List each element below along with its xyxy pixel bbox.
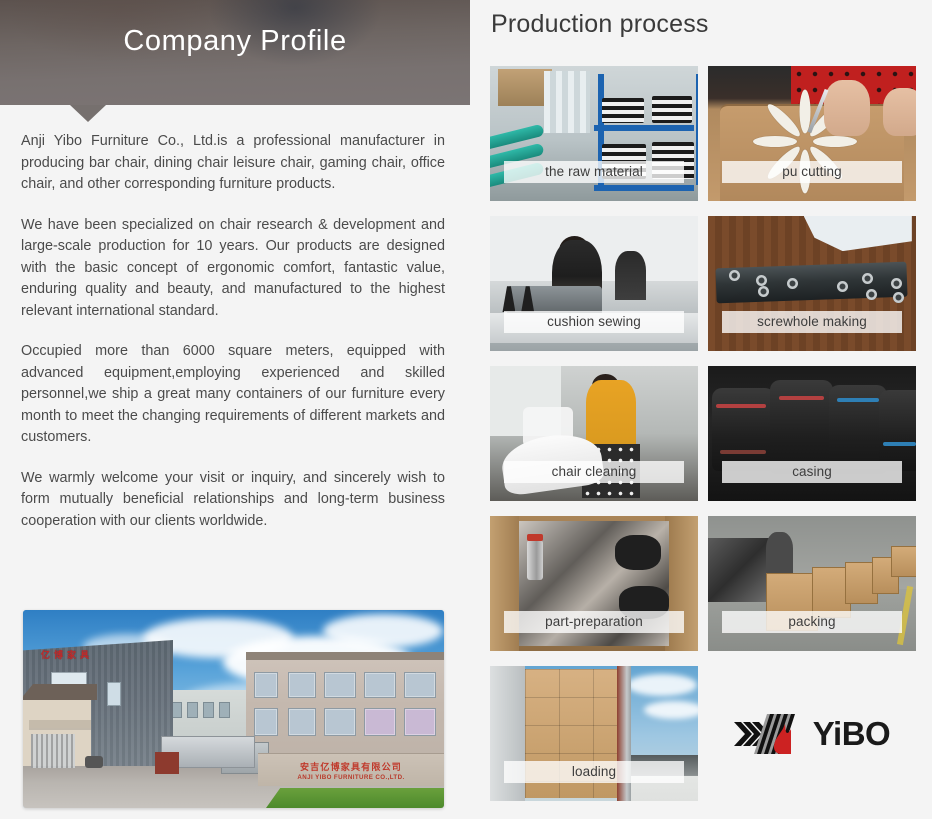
process-step-raw-material[interactable]: the raw material (490, 66, 698, 201)
process-step-caption: packing (722, 611, 902, 633)
window (404, 672, 436, 698)
window (187, 702, 198, 718)
worker (615, 251, 646, 300)
process-step-cushion-sewing[interactable]: cushion sewing (490, 216, 698, 351)
screw-hole (893, 292, 904, 303)
window (324, 672, 356, 698)
process-step-screwhole-making[interactable]: screwhole making (708, 216, 916, 351)
cloud (323, 614, 443, 648)
paper-sheet (804, 216, 912, 251)
blue-trim (883, 442, 916, 446)
red-trim (779, 396, 825, 400)
chair-seat (712, 388, 774, 472)
yibo-logo: YiBO (734, 713, 890, 755)
blue-trim (837, 398, 879, 402)
window (404, 708, 436, 736)
process-step-caption: loading (504, 761, 684, 783)
process-step-caption: casing (722, 461, 902, 483)
wrapped-goods (708, 538, 770, 603)
gas-lift-cylinder (527, 540, 543, 580)
window (364, 708, 396, 736)
chair-base-part (615, 535, 661, 570)
shelf (594, 185, 694, 191)
window (324, 708, 356, 736)
window (203, 702, 214, 718)
worker-hand (883, 88, 916, 137)
shelf (594, 125, 694, 131)
foam-stack (652, 96, 692, 123)
company-profile-panel: Company Profile Anji Yibo Furniture Co.,… (0, 0, 470, 819)
process-step-casing[interactable]: casing (708, 366, 916, 501)
company-profile-text: Anji Yibo Furniture Co., Ltd.is a profes… (21, 131, 445, 532)
scooter (85, 756, 103, 768)
company-profile-banner: Company Profile (0, 0, 470, 105)
chair-seat (770, 380, 832, 475)
worker-hand (824, 80, 870, 137)
process-step-loading[interactable]: loading (490, 666, 698, 801)
window (288, 708, 316, 736)
page-title: Company Profile (0, 25, 470, 58)
process-step-caption: pu cutting (722, 161, 902, 183)
process-step-caption: screwhole making (722, 311, 902, 333)
screw-hole (866, 289, 877, 300)
process-step-part-preparation[interactable]: part-preparation (490, 516, 698, 651)
chair-seat (879, 390, 916, 471)
carton-box (891, 546, 916, 578)
production-process-panel: Production process (470, 0, 932, 819)
process-row: part-preparation packing (490, 516, 916, 651)
brown-trim (720, 450, 766, 454)
yibo-chevron-mark-icon (734, 713, 804, 755)
truck-cab (155, 752, 179, 774)
screw-hole (837, 281, 848, 292)
process-row: loading (490, 666, 916, 801)
cloud (644, 701, 698, 719)
company-profile-page: Company Profile Anji Yibo Furniture Co.,… (0, 0, 932, 819)
wall-sign-english: ANJI YIBO FURNITURE CO.,LTD. (297, 774, 404, 781)
process-row: the raw material (490, 66, 916, 201)
process-row: chair cleaning casing (490, 366, 916, 501)
lawn (266, 788, 444, 808)
window (107, 682, 121, 706)
pu-petal (753, 136, 797, 147)
profile-paragraph: We warmly welcome your visit or inquiry,… (21, 468, 445, 533)
process-step-packing[interactable]: packing (708, 516, 916, 651)
factory-exterior-photo: 亿博家具 安吉亿博家具有限公司 (23, 610, 444, 808)
process-step-caption: chair cleaning (504, 461, 684, 483)
screw-hole (862, 273, 873, 284)
process-step-caption: cushion sewing (504, 311, 684, 333)
screw-hole (729, 270, 740, 281)
metal-carts (31, 734, 75, 768)
process-step-caption: the raw material (504, 161, 684, 183)
cloud (627, 674, 697, 696)
process-step-chair-cleaning[interactable]: chair cleaning (490, 366, 698, 501)
window (254, 672, 278, 698)
window (288, 672, 316, 698)
roofline (246, 652, 444, 660)
fabric-roll (544, 71, 590, 133)
production-process-grid: the raw material (490, 66, 916, 816)
building-sign-label: 亿博家具 (41, 648, 93, 661)
profile-paragraph: Occupied more than 6000 square meters, e… (21, 341, 445, 449)
yibo-wordmark: YiBO (813, 717, 890, 750)
profile-paragraph: We have been specialized on chair resear… (21, 215, 445, 323)
window (254, 708, 278, 736)
red-trim (716, 404, 766, 408)
worker (766, 532, 793, 573)
metal-bar (716, 261, 908, 303)
canopy (29, 720, 91, 728)
wall-sign-chinese: 安吉亿博家具有限公司 (300, 760, 402, 773)
process-row: cushion sewing (490, 216, 916, 351)
foam-stack (602, 98, 644, 122)
company-wall-sign: 安吉亿博家具有限公司 ANJI YIBO FURNITURE CO.,LTD. (258, 753, 444, 786)
window (219, 702, 230, 718)
window (364, 672, 396, 698)
process-step-pu-cutting[interactable]: pu cutting (708, 66, 916, 201)
company-logo: YiBO (708, 666, 916, 801)
process-step-caption: part-preparation (504, 611, 684, 633)
profile-paragraph: Anji Yibo Furniture Co., Ltd.is a profes… (21, 131, 445, 196)
section-title: Production process (491, 10, 709, 39)
